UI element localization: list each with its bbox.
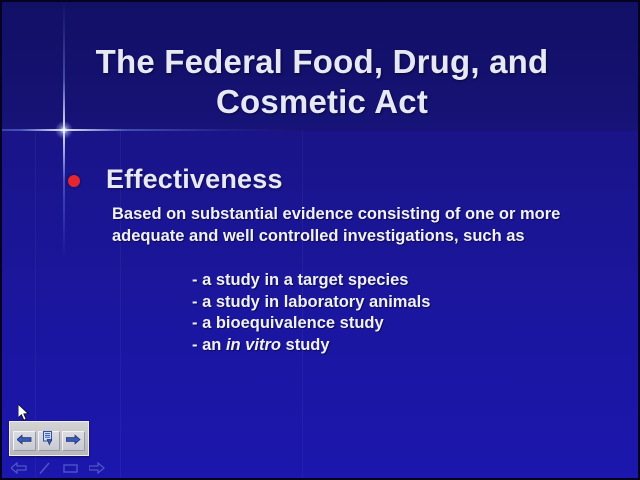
slide-menu-button[interactable] [38,431,61,451]
slide-body: Effectiveness Based on substantial evide… [2,166,638,200]
list-item: - a study in laboratory animals [192,292,430,313]
slide-navigation-toolbar[interactable] [9,421,89,456]
slide-viewer: The Federal Food, Drug, and Cosmetic Act… [0,0,640,480]
status-bar [2,458,638,478]
list-item-label: a study in laboratory animals [202,293,430,311]
list-item-dash: - [192,293,198,311]
list-item-label: an [202,336,226,354]
list-item-label: a study in a target species [202,271,408,289]
left-arrow-icon [17,432,32,450]
next-slide-button[interactable] [62,431,85,451]
previous-slide-button[interactable] [13,431,36,451]
slide-canvas[interactable]: The Federal Food, Drug, and Cosmetic Act… [2,2,638,478]
document-menu-icon [42,431,56,451]
forward-icon[interactable] [88,461,106,475]
list-item-emphasis: in vitro [226,336,281,354]
right-arrow-icon [66,432,81,450]
list-item-dash: - [192,336,198,354]
list-item-tail: study [281,336,330,354]
red-bullet-icon [68,175,80,187]
frame-border-top [0,0,640,2]
list-item-dash: - [192,314,198,332]
pen-icon[interactable] [36,461,54,475]
back-icon[interactable] [10,461,28,475]
mouse-pointer [18,404,30,422]
list-item: - a study in a target species [192,270,430,291]
list-item-dash: - [192,271,198,289]
list-item-label: a bioequivalence study [202,314,384,332]
body-paragraph: Based on substantial evidence consisting… [112,204,564,247]
frame-border-left [0,0,2,480]
slide-icon[interactable] [62,461,80,475]
slide-title: The Federal Food, Drug, and Cosmetic Act [62,42,582,122]
body-heading: Effectiveness [106,164,283,195]
list-item: - a bioequivalence study [192,313,430,334]
list-item: - an in vitro study [192,335,430,356]
bullet-row: Effectiveness [2,166,638,200]
sub-bullet-list: - a study in a target species - a study … [192,270,430,356]
